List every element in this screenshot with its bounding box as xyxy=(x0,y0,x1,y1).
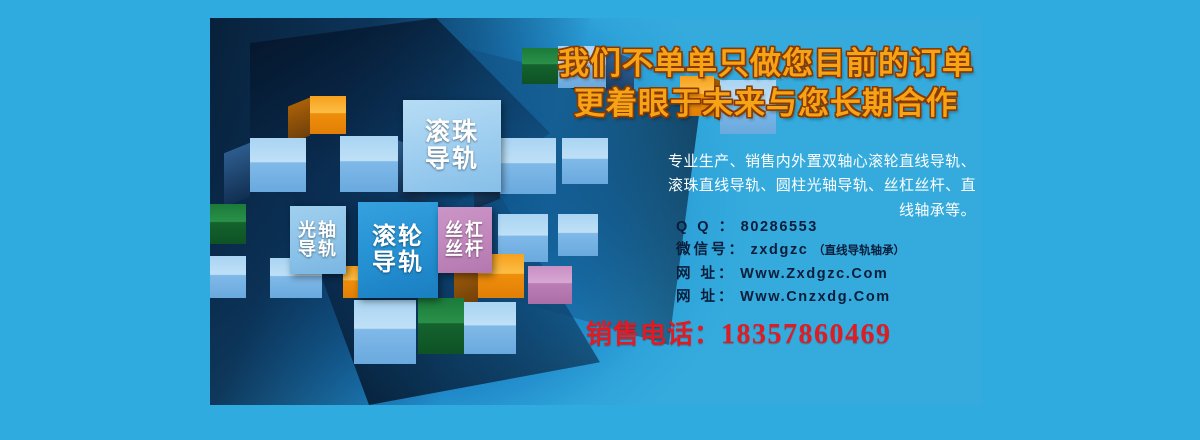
description-line-2: 滚珠直线导轨、圆柱光轴导轨、丝杠丝杆、直 xyxy=(556,174,976,198)
tile-guangzhou-daogui[interactable]: 光轴 导轨 xyxy=(290,206,346,274)
tile-gunlun-line2: 导轨 xyxy=(372,250,424,276)
contact-row-qq: Q Q ： 80286553 xyxy=(676,216,905,239)
tile-sigang-line1: 丝杠 xyxy=(445,221,485,240)
headline: 我们不单单只做您目前的订单 更着眼于未来与您长期合作 xyxy=(550,44,982,123)
site2-label: 网 址： xyxy=(676,289,736,305)
contact-row-site-1: 网 址： Www.Zxdgzc.Com xyxy=(676,263,905,286)
site1-label: 网 址： xyxy=(676,266,736,282)
wechat-label: 微信号： xyxy=(676,242,746,258)
tile-guangzhou-line1: 光轴 xyxy=(298,221,338,240)
tile-gunlun-line1: 滚轮 xyxy=(372,224,424,250)
headline-line-2: 更着眼于未来与您长期合作 xyxy=(550,84,982,124)
sales-phone[interactable]: 销售电话：18357860469 xyxy=(586,314,892,351)
cube-lightblue xyxy=(250,138,306,192)
tile-gunzhu-line2: 导轨 xyxy=(425,146,479,173)
artwork-panel: 滚珠 导轨 滚轮 导轨 光轴 导轨 丝杠 丝杆 我们不单单只做您目前的订单 更着… xyxy=(210,18,982,405)
wechat-note: （直线导轨轴承） xyxy=(813,245,905,257)
cube-lightblue xyxy=(500,138,556,194)
tile-gunlun-daogui[interactable]: 滚轮 导轨 xyxy=(358,202,438,298)
cube-lightblue xyxy=(354,300,416,364)
cube-lightblue xyxy=(210,256,246,298)
cube-green xyxy=(418,298,464,354)
cube-green xyxy=(210,204,246,244)
headline-line-1: 我们不单单只做您目前的订单 xyxy=(550,44,982,84)
contact-row-site-2: 网 址： Www.Cnzxdg.Com xyxy=(676,286,905,309)
tile-gunzhu-line1: 滚珠 xyxy=(425,119,479,146)
sales-phone-number[interactable]: 18357860469 xyxy=(721,319,892,350)
tile-sigang-line2: 丝杆 xyxy=(445,240,485,259)
promo-banner: 滚珠 导轨 滚轮 导轨 光轴 导轨 丝杠 丝杆 我们不单单只做您目前的订单 更着… xyxy=(0,0,1200,440)
wechat-value[interactable]: zxdgzc xyxy=(751,242,809,258)
site2-value[interactable]: Www.Cnzxdg.Com xyxy=(740,289,891,305)
sales-phone-label: 销售电话： xyxy=(586,319,721,349)
cube-lightblue xyxy=(340,136,398,192)
contact-row-wechat: 微信号： zxdgzc （直线导轨轴承） xyxy=(676,239,905,262)
description-line-1: 专业生产、销售内外置双轴心滚轮直线导轨、 xyxy=(556,150,976,174)
cube-side xyxy=(224,143,250,208)
description: 专业生产、销售内外置双轴心滚轮直线导轨、 滚珠直线导轨、圆柱光轴导轨、丝杠丝杆、… xyxy=(556,150,976,223)
contact-block: Q Q ： 80286553 微信号： zxdgzc （直线导轨轴承） 网 址：… xyxy=(676,216,905,310)
copy-column: 我们不单单只做您目前的订单 更着眼于未来与您长期合作 专业生产、销售内外置双轴心… xyxy=(550,18,982,405)
qq-value[interactable]: 80286553 xyxy=(741,219,818,235)
tile-guangzhou-line2: 导轨 xyxy=(298,240,338,259)
qq-label: Q Q ： xyxy=(676,219,736,235)
site1-value[interactable]: Www.Zxdgzc.Com xyxy=(740,266,888,282)
tile-gunzhu-daogui[interactable]: 滚珠 导轨 xyxy=(403,100,501,192)
cube-lightblue xyxy=(464,302,516,354)
cube-orange xyxy=(310,96,346,134)
tile-sigang-sigan[interactable]: 丝杠 丝杆 xyxy=(438,207,492,273)
